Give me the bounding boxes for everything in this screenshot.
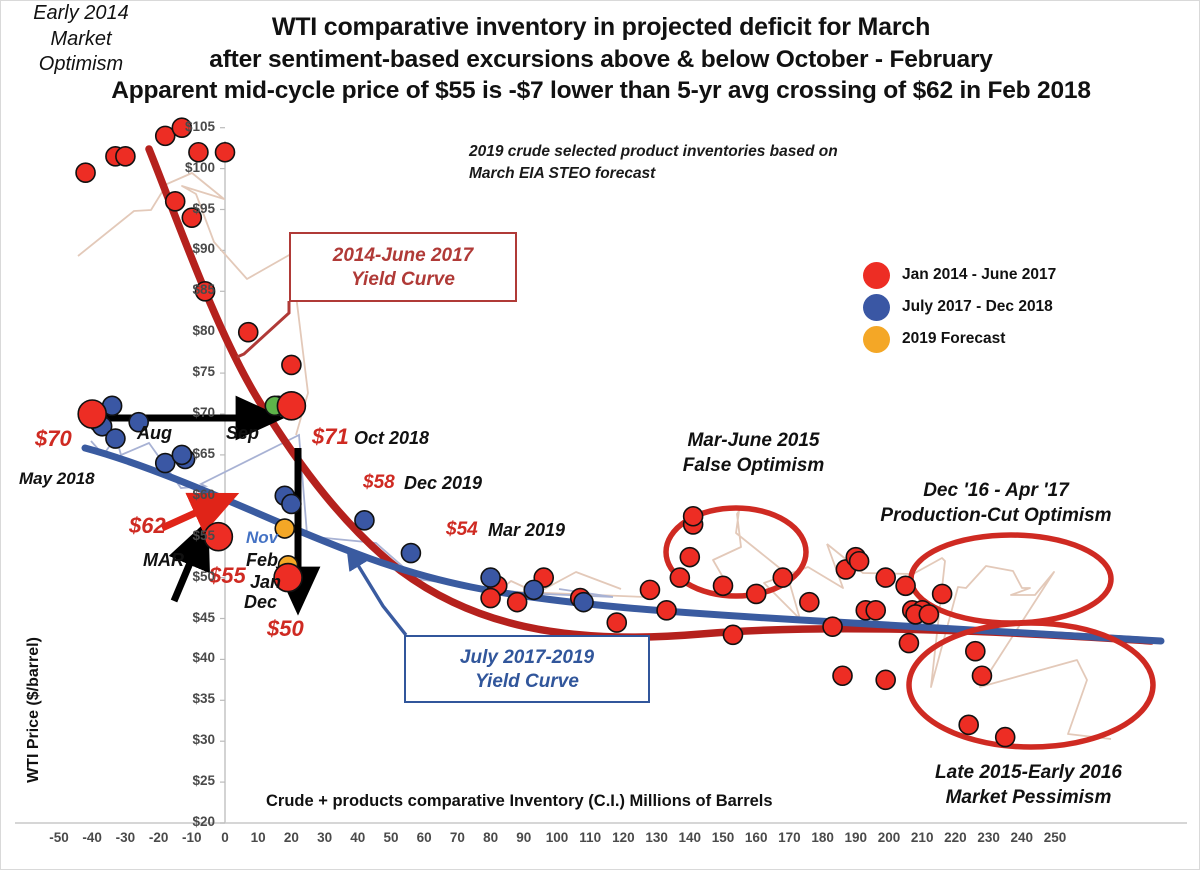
callout-blue-line1: July 2017-2019 (406, 646, 648, 670)
annotation-price-50: $50 (267, 616, 304, 642)
x-tick-30: 30 (307, 830, 343, 845)
x-tick-100: 100 (539, 830, 575, 845)
y-tick-55: $55 (169, 528, 215, 543)
x-tick-0: 0 (207, 830, 243, 845)
x-tick-220: 220 (937, 830, 973, 845)
annotation-month-dec: Dec (244, 592, 277, 613)
x-tick-150: 150 (705, 830, 741, 845)
legend-swatch-blue (863, 294, 890, 321)
data-point-s0-10 (239, 323, 258, 342)
data-point-s0-13 (657, 601, 676, 620)
annotation-month-jan: Jan (250, 572, 281, 593)
data-point-s0-30 (866, 601, 885, 620)
x-tick-250: 250 (1037, 830, 1073, 845)
data-point-s0-19 (714, 576, 733, 595)
x-tick--10: -10 (174, 830, 210, 845)
y-tick-65: $65 (169, 446, 215, 461)
annotation-month-aug: Aug (137, 423, 172, 444)
annotation-may-2018: May 2018 (19, 469, 95, 489)
annotation-price-58: $58 (363, 472, 395, 494)
x-tick-210: 210 (904, 830, 940, 845)
data-point-s0-36 (919, 605, 938, 624)
x-axis-title: Crude + products comparative Inventory (… (266, 792, 773, 811)
y-tick-20: $20 (169, 814, 215, 829)
x-tick-240: 240 (1004, 830, 1040, 845)
x-tick-230: 230 (971, 830, 1007, 845)
data-point-s0-23 (800, 593, 819, 612)
x-tick--40: -40 (74, 830, 110, 845)
legend-label-2: 2019 Forecast (902, 330, 1005, 348)
legend-swatch-red (863, 262, 890, 289)
data-point-s0-2 (116, 147, 135, 166)
annotation-oct-2018: Oct 2018 (354, 428, 429, 449)
legend-label-0: Jan 2014 - June 2017 (902, 266, 1056, 284)
annotation-month-feb: Feb (246, 550, 278, 571)
x-tick-110: 110 (572, 830, 608, 845)
callout-red-line1: 2014-June 2017 (291, 244, 515, 268)
y-axis-title: WTI Price ($/barrel) (25, 615, 43, 805)
data-point-s1-4 (106, 429, 125, 448)
ellipse-production-cut (911, 535, 1111, 623)
region-mj2015-line2: False Optimism (646, 454, 861, 479)
x-tick-60: 60 (406, 830, 442, 845)
y-tick-45: $45 (169, 610, 215, 625)
x-tick-20: 20 (273, 830, 309, 845)
callout-red-line2: Yield Curve (291, 268, 515, 292)
data-point-s0-27 (850, 552, 869, 571)
y-tick-75: $75 (169, 364, 215, 379)
data-point-s0-20 (723, 625, 742, 644)
data-point-s0-32 (896, 576, 915, 595)
y-tick-35: $35 (169, 691, 215, 706)
annotation-mar-2019: Mar 2019 (488, 520, 565, 541)
data-point-s0-39 (876, 670, 895, 689)
data-point-s0-48 (481, 589, 500, 608)
data-point-s0-41 (972, 666, 991, 685)
data-point-s0-15 (670, 568, 689, 587)
data-point-s1-13 (401, 544, 420, 563)
legend: Jan 2014 - June 2017 July 2017 - Dec 201… (863, 259, 1056, 355)
y-tick-60: $60 (169, 487, 215, 502)
region-label-mar-june-2015: Mar-June 2015 False Optimism (646, 429, 861, 478)
x-tick--20: -20 (141, 830, 177, 845)
x-tick-120: 120 (605, 830, 641, 845)
data-point-s0-21 (747, 584, 766, 603)
data-point-s0-22 (773, 568, 792, 587)
data-point-s0-6 (216, 143, 235, 162)
y-tick-80: $80 (169, 323, 215, 338)
data-point-s0-24 (823, 617, 842, 636)
y-tick-50: $50 (169, 569, 215, 584)
highlight-point-70 (78, 400, 106, 428)
data-point-s1-16 (524, 580, 543, 599)
chart-subtitle: 2019 crude selected product inventories … (469, 141, 849, 186)
annotation-price-71: $71 (312, 424, 349, 450)
data-point-s0-17 (684, 507, 703, 526)
chart-root: WTI comparative inventory in projected d… (0, 0, 1200, 870)
data-point-s0-46 (508, 593, 527, 612)
data-point-s0-28 (833, 666, 852, 685)
x-tick-50: 50 (373, 830, 409, 845)
legend-item-1[interactable]: July 2017 - Dec 2018 (863, 291, 1056, 323)
x-tick--30: -30 (107, 830, 143, 845)
x-tick-190: 190 (838, 830, 874, 845)
data-point-s0-42 (959, 715, 978, 734)
y-tick-90: $90 (169, 241, 215, 256)
ellipse-market-pessimism (909, 623, 1153, 747)
data-point-s1-11 (282, 494, 301, 513)
callout-blue-line2: Yield Curve (406, 670, 648, 694)
y-tick-95: $95 (169, 201, 215, 216)
x-tick-90: 90 (506, 830, 542, 845)
y-tick-30: $30 (169, 732, 215, 747)
legend-item-0[interactable]: Jan 2014 - June 2017 (863, 259, 1056, 291)
x-tick-180: 180 (805, 830, 841, 845)
data-point-s0-37 (933, 584, 952, 603)
data-point-s0-40 (966, 642, 985, 661)
x-tick-40: 40 (340, 830, 376, 845)
x-tick-130: 130 (639, 830, 675, 845)
legend-item-2[interactable]: 2019 Forecast (863, 323, 1056, 355)
x-tick-160: 160 (738, 830, 774, 845)
region-late2015-line2: Market Pessimism (906, 786, 1151, 811)
x-tick--50: -50 (41, 830, 77, 845)
x-tick-80: 80 (473, 830, 509, 845)
data-point-s0-14 (640, 580, 659, 599)
annotation-month-nov: Nov (246, 528, 278, 548)
data-point-s1-12 (355, 511, 374, 530)
data-point-s1-14 (481, 568, 500, 587)
data-point-s1-15 (574, 593, 593, 612)
region-label-late-2015: Late 2015-Early 2016 Market Pessimism (906, 761, 1151, 810)
annotation-price-70: $70 (35, 426, 72, 452)
y-tick-25: $25 (169, 773, 215, 788)
x-tick-170: 170 (771, 830, 807, 845)
data-point-s0-11 (282, 355, 301, 374)
data-point-s0-0 (76, 163, 95, 182)
data-point-s0-18 (680, 548, 699, 567)
y-tick-105: $105 (169, 119, 215, 134)
x-tick-140: 140 (672, 830, 708, 845)
data-point-s0-43 (996, 728, 1015, 747)
region-mj2015-line1: Mar-June 2015 (646, 429, 861, 454)
y-tick-100: $100 (169, 160, 215, 175)
legend-swatch-orange (863, 326, 890, 353)
region-label-dec16-apr17: Dec '16 - Apr '17 Production-Cut Optimis… (876, 479, 1116, 528)
annotation-price-62: $62 (129, 513, 166, 539)
x-tick-200: 200 (871, 830, 907, 845)
annotation-month-sep: Sep (226, 423, 259, 444)
callout-blue-yield-curve[interactable]: July 2017-2019 Yield Curve (404, 635, 650, 703)
annotation-price-54: $54 (446, 519, 478, 541)
data-point-s0-38 (899, 634, 918, 653)
y-tick-85: $85 (169, 282, 215, 297)
x-tick-70: 70 (439, 830, 475, 845)
annotation-dec-2019: Dec 2019 (404, 473, 482, 494)
y-tick-40: $40 (169, 650, 215, 665)
legend-label-1: July 2017 - Dec 2018 (902, 298, 1053, 316)
callout-red-yield-curve[interactable]: 2014-June 2017 Yield Curve (289, 232, 517, 302)
x-tick-10: 10 (240, 830, 276, 845)
region-late2015-line1: Late 2015-Early 2016 (906, 761, 1151, 786)
region-d16a17-line1: Dec '16 - Apr '17 (876, 479, 1116, 504)
highlight-point-71 (277, 392, 305, 420)
data-point-s0-49 (607, 613, 626, 632)
region-d16a17-line2: Production-Cut Optimism (876, 504, 1116, 529)
data-point-s0-31 (876, 568, 895, 587)
y-tick-70: $70 (169, 405, 215, 420)
